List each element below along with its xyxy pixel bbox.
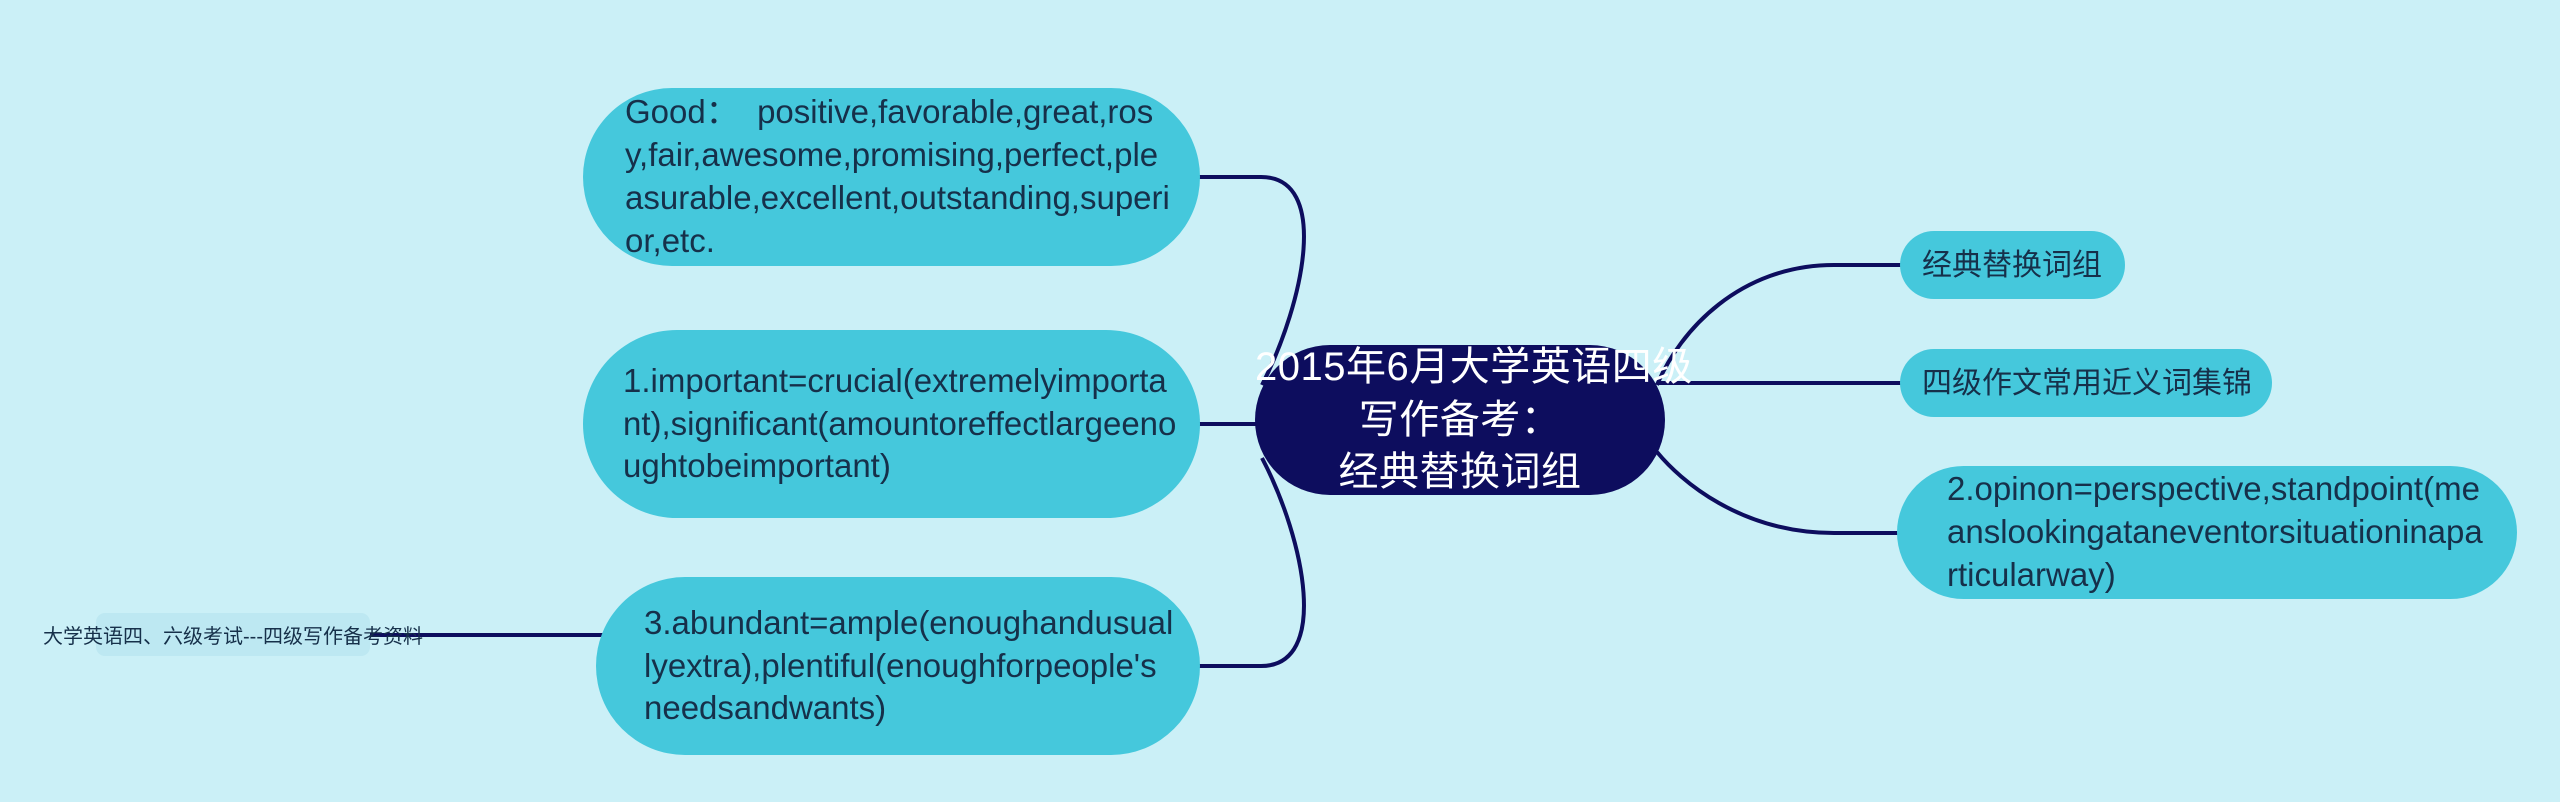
root-node[interactable]: 2015年6月大学英语四级 写作备考：经典替换词组 bbox=[1255, 345, 1665, 495]
source-label[interactable]: 大学英语四、六级考试---四级写作备考资料 bbox=[96, 613, 370, 656]
branch-node-good[interactable]: Good： positive,favorable,great,rosy,fair… bbox=[583, 88, 1200, 266]
connector-root-to-opinon bbox=[1657, 452, 1902, 533]
branch-node-abundant-label: 3.abundant=ample(enoughandusuallyextra),… bbox=[644, 602, 1174, 731]
branch-node-synonyms[interactable]: 四级作文常用近义词集锦 bbox=[1900, 349, 2272, 417]
branch-node-good-label: Good： positive,favorable,great,rosy,fair… bbox=[625, 91, 1174, 263]
mindmap-canvas: Good： positive,favorable,great,rosy,fair… bbox=[0, 0, 2560, 802]
branch-node-classic-phrases[interactable]: 经典替换词组 bbox=[1900, 231, 2125, 299]
branch-node-opinon-label: 2.opinon=perspective,standpoint(meansloo… bbox=[1947, 468, 2493, 597]
branch-node-important[interactable]: 1.important=crucial(extremelyimportant),… bbox=[583, 330, 1200, 518]
branch-node-opinon[interactable]: 2.opinon=perspective,standpoint(meansloo… bbox=[1897, 466, 2517, 599]
branch-node-synonyms-label: 四级作文常用近义词集锦 bbox=[1922, 364, 2250, 403]
branch-node-classic-phrases-label: 经典替换词组 bbox=[1922, 246, 2103, 285]
branch-node-important-label: 1.important=crucial(extremelyimportant),… bbox=[623, 360, 1178, 489]
connector-root-to-classic bbox=[1657, 265, 1905, 385]
branch-node-abundant[interactable]: 3.abundant=ample(enoughandusuallyextra),… bbox=[596, 577, 1200, 755]
root-node-label: 2015年6月大学英语四级 写作备考：经典替换词组 bbox=[1255, 341, 1665, 499]
source-label-text: 大学英语四、六级考试---四级写作备考资料 bbox=[43, 620, 423, 649]
